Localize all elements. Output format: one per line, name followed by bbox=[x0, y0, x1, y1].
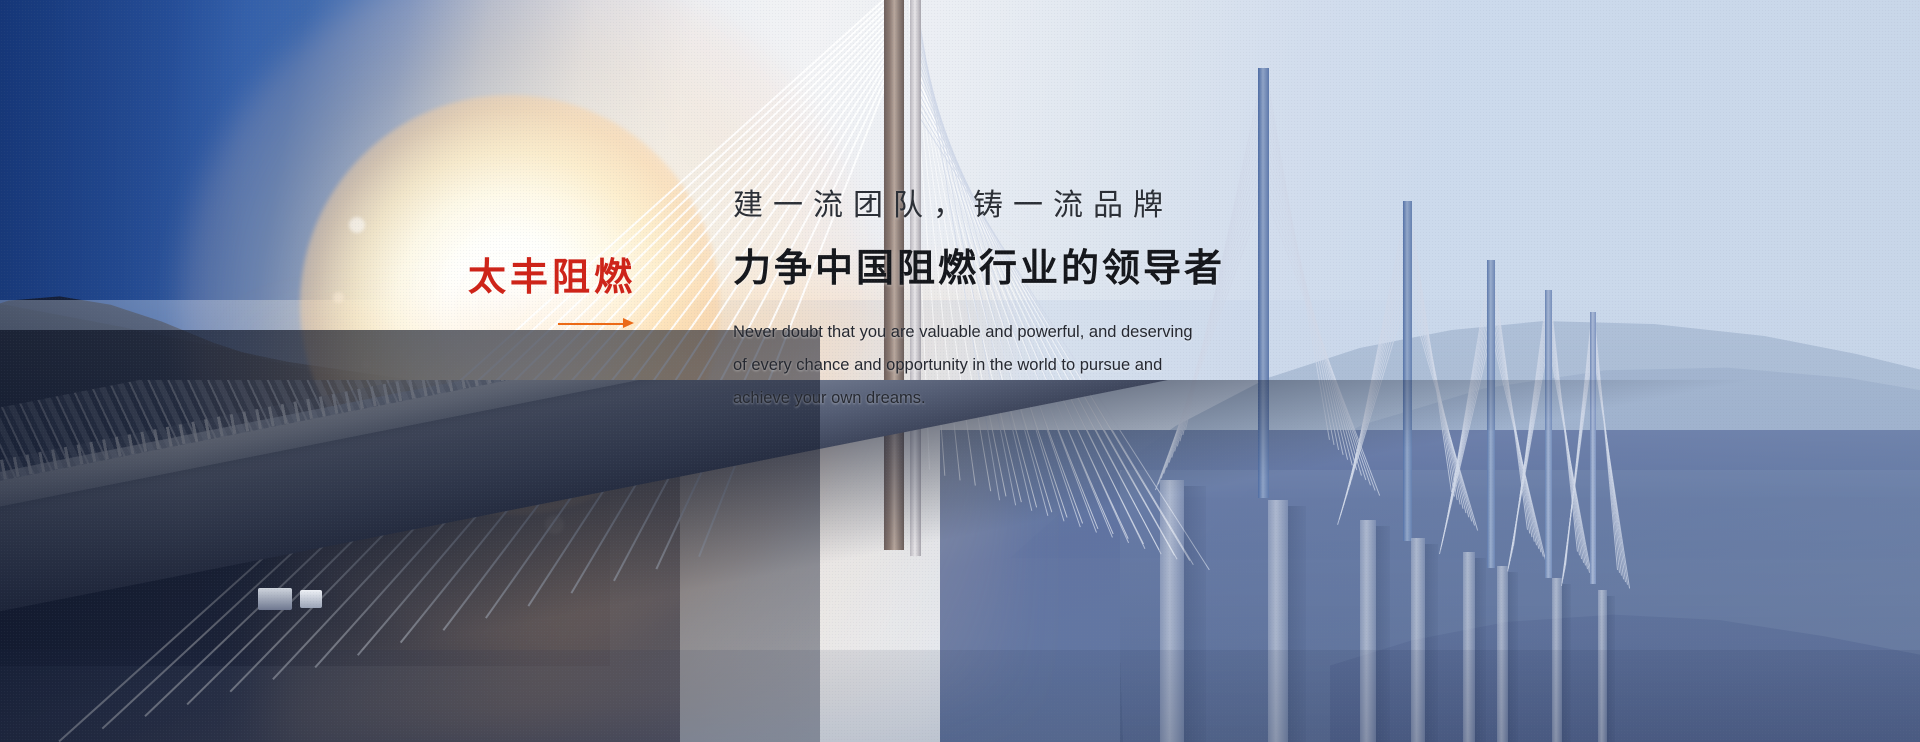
arrow-head bbox=[623, 318, 634, 328]
arrow-shaft bbox=[558, 323, 626, 325]
headline-block: 建一流团队，铸一流品牌 力争中国阻燃行业的领导者 Never doubt tha… bbox=[733, 188, 1373, 415]
brand-logo-text: 太丰阻燃 bbox=[468, 258, 668, 296]
headline-sub: 建一流团队，铸一流品牌 bbox=[733, 188, 1373, 224]
description-text: Never doubt that you are valuable and po… bbox=[733, 316, 1373, 415]
description-line-2: of every chance and opportunity in the w… bbox=[733, 349, 1373, 382]
hero-banner: 太丰阻燃 建一流团队，铸一流品牌 力争中国阻燃行业的领导者 Never doub… bbox=[0, 0, 1920, 742]
arrow-right-icon bbox=[558, 318, 634, 329]
brand-logo[interactable]: 太丰阻燃 bbox=[468, 258, 668, 329]
banner-content: 太丰阻燃 建一流团队，铸一流品牌 力争中国阻燃行业的领导者 Never doub… bbox=[0, 0, 1920, 742]
description-line-3: achieve your own dreams. bbox=[733, 382, 1373, 415]
headline-main: 力争中国阻燃行业的领导者 bbox=[733, 246, 1373, 292]
description-line-1: Never doubt that you are valuable and po… bbox=[733, 316, 1373, 349]
